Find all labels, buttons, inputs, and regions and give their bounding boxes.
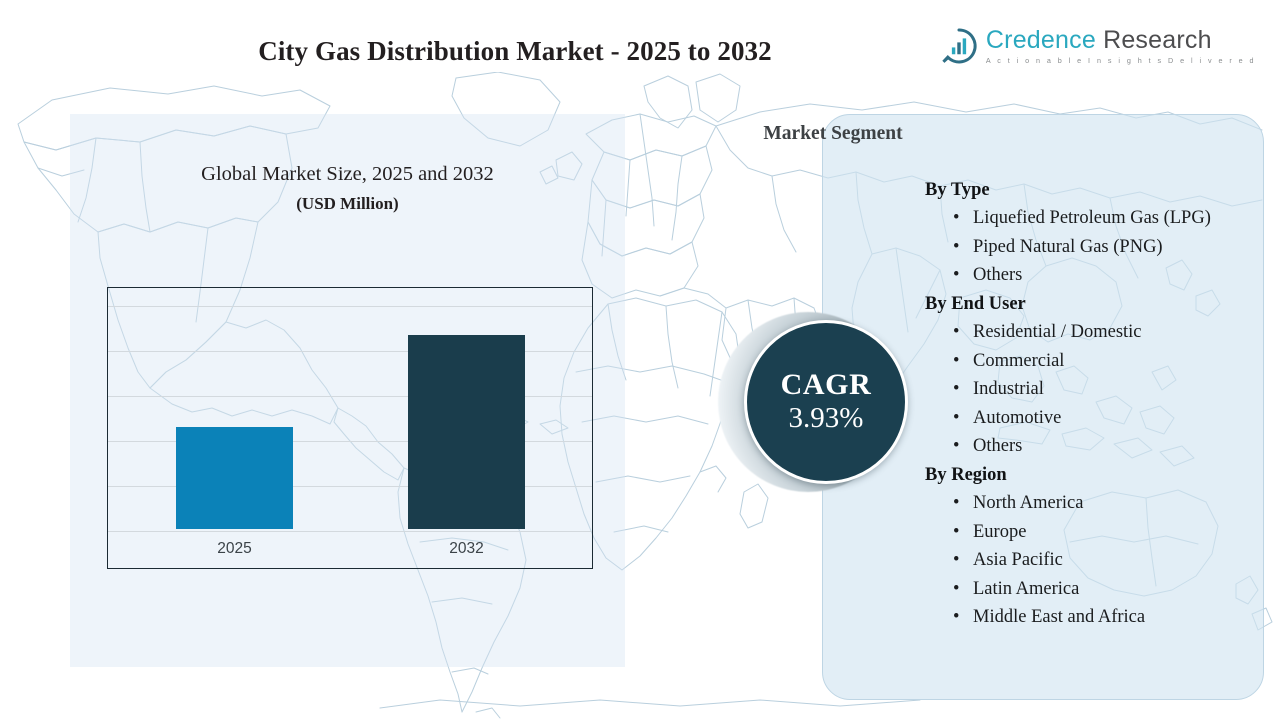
list-item-label: Industrial (973, 379, 1044, 399)
list-item: •Others (925, 261, 1265, 290)
logo-tagline: A c t i o n a b l e I n s i g h t s D e … (986, 57, 1256, 64)
bullet-icon: • (953, 204, 959, 233)
bar-chart: 188169 2025 246453 2032 (107, 287, 593, 569)
list-item: •Liquefied Petroleum Gas (LPG) (925, 204, 1265, 233)
list-item-label: Europe (973, 522, 1026, 542)
cagr-label: CAGR (781, 369, 872, 401)
bullet-icon: • (953, 261, 959, 290)
market-segment-heading: Market Segment (0, 123, 1280, 145)
cagr-value: 3.93% (789, 402, 864, 435)
bullet-icon: • (953, 404, 959, 433)
bar-label-2032: 2032 (449, 540, 483, 558)
list-item-label: Latin America (973, 579, 1079, 599)
list-item-label: Asia Pacific (973, 550, 1063, 570)
bar-2032 (408, 335, 525, 529)
brand-logo: Credence Research A c t i o n a b l e I … (940, 27, 1256, 65)
segment-items-by-region: •North America •Europe •Asia Pacific •La… (925, 489, 1265, 632)
bullet-icon: • (953, 518, 959, 547)
bullet-icon: • (953, 489, 959, 518)
bullet-icon: • (953, 318, 959, 347)
list-item: •North America (925, 489, 1265, 518)
list-item-label: Residential / Domestic (973, 322, 1142, 342)
list-item: •Europe (925, 518, 1265, 547)
chart-title-line1: Global Market Size, 2025 and 2032 (70, 163, 625, 186)
bar-group-2032: 246453 2032 (408, 286, 525, 568)
bar-group-2025: 188169 2025 (176, 286, 293, 568)
logo-name-research: Research (1103, 26, 1212, 54)
chart-plot-area: 188169 2025 246453 2032 (108, 288, 592, 568)
segment-group-by-type: By Type •Liquefied Petroleum Gas (LPG) •… (925, 176, 1265, 290)
segment-group-title: By Region (925, 461, 1265, 489)
segment-group-by-end-user: By End User •Residential / Domestic •Com… (925, 290, 1265, 461)
bar-2025 (176, 427, 293, 529)
segment-group-title: By Type (925, 176, 1265, 204)
list-item: •Commercial (925, 347, 1265, 376)
list-item-label: Commercial (973, 351, 1064, 371)
list-item-label: Piped Natural Gas (PNG) (973, 237, 1163, 257)
list-item: •Automotive (925, 404, 1265, 433)
header: City Gas Distribution Market - 2025 to 2… (0, 0, 1280, 92)
list-item: •Middle East and Africa (925, 603, 1265, 632)
bar-chart-circle-icon (940, 27, 978, 65)
bullet-icon: • (953, 347, 959, 376)
list-item-label: Others (973, 436, 1022, 456)
logo-company-name: Credence Research (986, 28, 1256, 53)
bullet-icon: • (953, 603, 959, 632)
list-item: •Residential / Domestic (925, 318, 1265, 347)
segment-items-by-end-user: •Residential / Domestic •Commercial •Ind… (925, 318, 1265, 461)
list-item-label: Liquefied Petroleum Gas (LPG) (973, 208, 1211, 228)
list-item-label: Automotive (973, 408, 1061, 428)
cagr-badge: CAGR 3.93% (718, 312, 918, 502)
segment-group-title: By End User (925, 290, 1265, 318)
logo-text: Credence Research A c t i o n a b l e I … (986, 28, 1256, 64)
bullet-icon: • (953, 233, 959, 262)
list-item-label: Middle East and Africa (973, 607, 1145, 627)
logo-name-credence: Credence (986, 26, 1096, 54)
list-item: •Piped Natural Gas (PNG) (925, 233, 1265, 262)
cagr-circle: CAGR 3.93% (744, 320, 908, 484)
list-item: •Asia Pacific (925, 546, 1265, 575)
bullet-icon: • (953, 575, 959, 604)
chart-title-line2: (USD Million) (70, 194, 625, 214)
list-item: •Industrial (925, 375, 1265, 404)
bullet-icon: • (953, 546, 959, 575)
list-item-label: North America (973, 493, 1083, 513)
segment-group-by-region: By Region •North America •Europe •Asia P… (925, 461, 1265, 632)
market-segment-list: By Type •Liquefied Petroleum Gas (LPG) •… (925, 176, 1265, 632)
page-title: City Gas Distribution Market - 2025 to 2… (0, 36, 1030, 67)
bullet-icon: • (953, 375, 959, 404)
bullet-icon: • (953, 432, 959, 461)
bar-label-2025: 2025 (217, 540, 251, 558)
list-item: •Latin America (925, 575, 1265, 604)
chart-title: Global Market Size, 2025 and 2032 (USD M… (70, 163, 625, 214)
list-item: •Others (925, 432, 1265, 461)
list-item-label: Others (973, 265, 1022, 285)
segment-items-by-type: •Liquefied Petroleum Gas (LPG) •Piped Na… (925, 204, 1265, 290)
